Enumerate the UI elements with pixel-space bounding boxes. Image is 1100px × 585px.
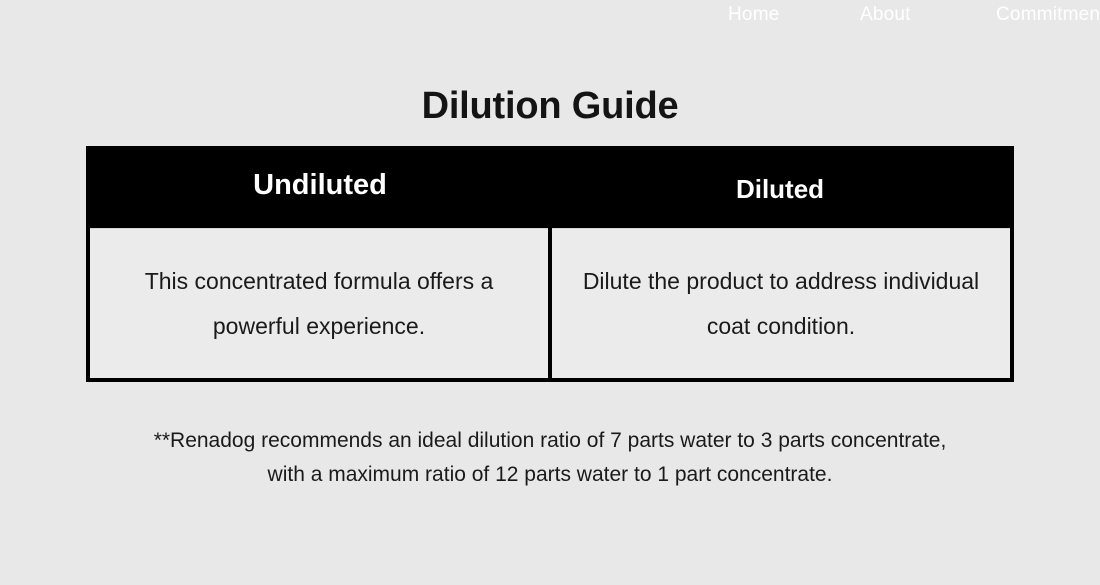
dilution-comparison-table: Undiluted Diluted This concentrated form… bbox=[86, 146, 1014, 382]
table-header-diluted: Diluted bbox=[550, 150, 1010, 228]
nav-item-about[interactable]: About bbox=[860, 2, 911, 28]
nav-item-commitment[interactable]: Commitment bbox=[996, 2, 1100, 28]
table-header-undiluted: Undiluted bbox=[90, 150, 550, 228]
footnote-line-2: with a maximum ratio of 12 parts water t… bbox=[0, 458, 1100, 492]
table-header-row: Undiluted Diluted bbox=[90, 150, 1010, 228]
table-body-row: This concentrated formula offers a power… bbox=[90, 228, 1010, 378]
nav-item-home[interactable]: Home bbox=[728, 2, 779, 28]
table-cell-diluted-description: Dilute the product to address individual… bbox=[552, 228, 1010, 378]
page-title: Dilution Guide bbox=[0, 82, 1100, 130]
footnote-line-1: **Renadog recommends an ideal dilution r… bbox=[0, 424, 1100, 458]
dilution-ratio-footnote: **Renadog recommends an ideal dilution r… bbox=[0, 424, 1100, 492]
table-cell-undiluted-description: This concentrated formula offers a power… bbox=[90, 228, 548, 378]
top-navigation-bar: Home About Commitment bbox=[0, 0, 1100, 30]
